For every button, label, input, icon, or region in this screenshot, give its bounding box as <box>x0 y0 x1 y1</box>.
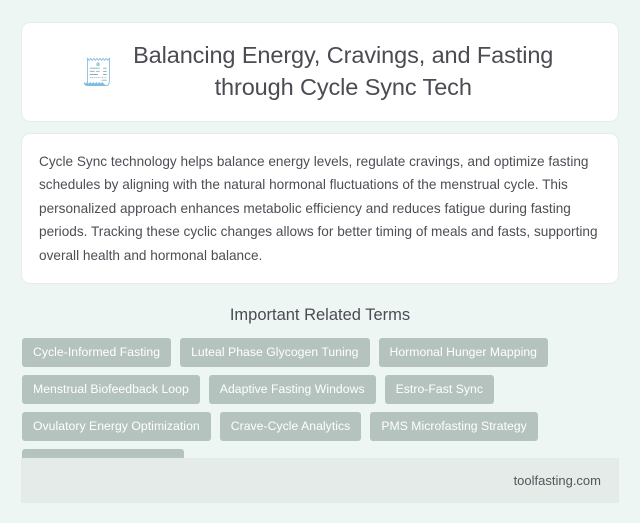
term-tag[interactable]: Menstrual Biofeedback Loop <box>22 375 200 404</box>
term-tag[interactable]: PMS Microfasting Strategy <box>370 412 538 441</box>
term-tag[interactable]: Adaptive Fasting Windows <box>209 375 376 404</box>
related-terms-heading: Important Related Terms <box>21 306 619 325</box>
page-title: Balancing Energy, Cravings, and Fasting … <box>128 40 558 104</box>
term-tag[interactable]: Luteal Phase Glycogen Tuning <box>180 338 369 367</box>
page-root: 🧾 Balancing Energy, Cravings, and Fastin… <box>0 0 640 523</box>
title-row: 🧾 Balancing Energy, Cravings, and Fastin… <box>50 24 590 119</box>
term-tag[interactable]: Cycle-Informed Fasting <box>22 338 171 367</box>
term-tag[interactable]: Estro-Fast Sync <box>385 375 494 404</box>
title-card: 🧾 Balancing Energy, Cravings, and Fastin… <box>21 22 619 122</box>
receipt-document-icon: 🧾 <box>82 59 114 85</box>
summary-card: Cycle Sync technology helps balance ener… <box>21 133 619 284</box>
page-footer: toolfasting.com <box>21 458 619 503</box>
summary-text: Cycle Sync technology helps balance ener… <box>39 150 602 267</box>
term-tag[interactable]: Ovulatory Energy Optimization <box>22 412 211 441</box>
footer-site-name: toolfasting.com <box>514 473 601 488</box>
term-tag[interactable]: Hormonal Hunger Mapping <box>379 338 548 367</box>
term-tag[interactable]: Crave-Cycle Analytics <box>220 412 362 441</box>
